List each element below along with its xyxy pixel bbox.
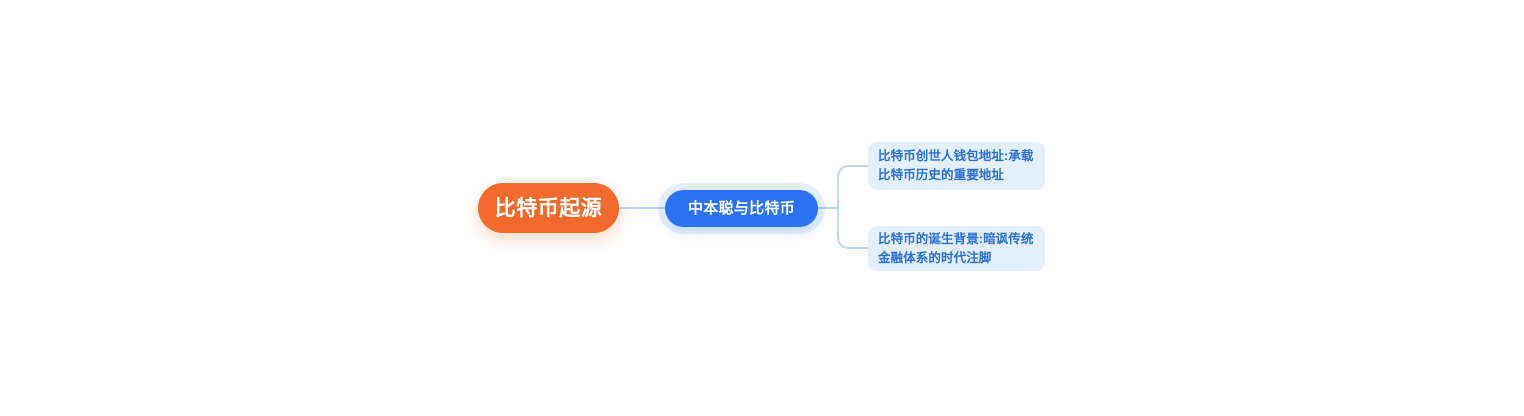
mindmap-root-label: 比特币起源 xyxy=(495,198,603,219)
mindmap-branch-node[interactable]: 中本聪与比特币 xyxy=(665,190,818,227)
mindmap-leaf-label-1: 比特币的诞生背景:暗讽传统金融体系的时代注脚 xyxy=(878,230,1035,268)
mindmap-leaf-label-0: 比特币创世人钱包地址:承载比特币历史的重要地址 xyxy=(878,147,1035,185)
mindmap-leaf-node-0[interactable]: 比特币创世人钱包地址:承载比特币历史的重要地址 xyxy=(868,142,1045,190)
mindmap-canvas: 比特币起源 中本聪与比特币 比特币创世人钱包地址:承载比特币历史的重要地址 比特… xyxy=(0,0,1524,416)
mindmap-branch-label: 中本聪与比特币 xyxy=(688,201,795,216)
connector-branch-to-leaf-1 xyxy=(838,208,868,248)
mindmap-root-node[interactable]: 比特币起源 xyxy=(478,183,619,233)
connector-branch-to-leaf-0 xyxy=(838,166,868,208)
mindmap-leaf-node-1[interactable]: 比特币的诞生背景:暗讽传统金融体系的时代注脚 xyxy=(868,226,1045,271)
